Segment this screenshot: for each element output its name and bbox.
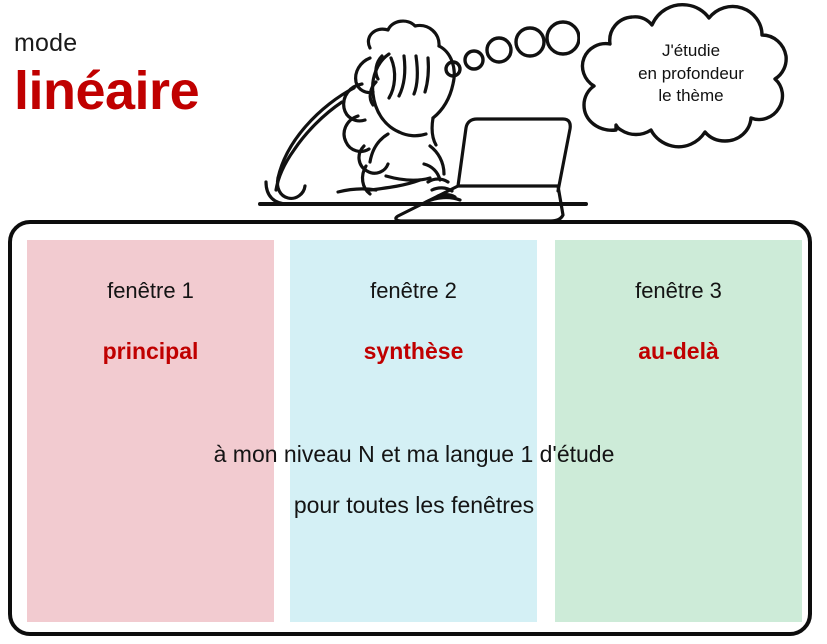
panel-1-heading: fenêtre 1: [27, 278, 274, 304]
panel-1-subtitle: principal: [27, 338, 274, 365]
panel-3-heading: fenêtre 3: [555, 278, 802, 304]
title-block: mode linéaire: [14, 30, 274, 120]
diagram-canvas: mode linéaire: [0, 0, 827, 644]
panel-2-heading: fenêtre 2: [290, 278, 537, 304]
mode-label: mode: [14, 30, 274, 58]
panel-3-subtitle: au-delà: [555, 338, 802, 365]
thought-bubble-icon: [556, 2, 822, 167]
panel-fenetre-3[interactable]: fenêtre 3 au-delà: [555, 240, 802, 622]
panel-fenetre-2[interactable]: fenêtre 2 synthèse: [290, 240, 537, 622]
panel-fenetre-1[interactable]: fenêtre 1 principal: [27, 240, 274, 622]
mode-value: linéaire: [14, 62, 274, 120]
panel-2-subtitle: synthèse: [290, 338, 537, 365]
